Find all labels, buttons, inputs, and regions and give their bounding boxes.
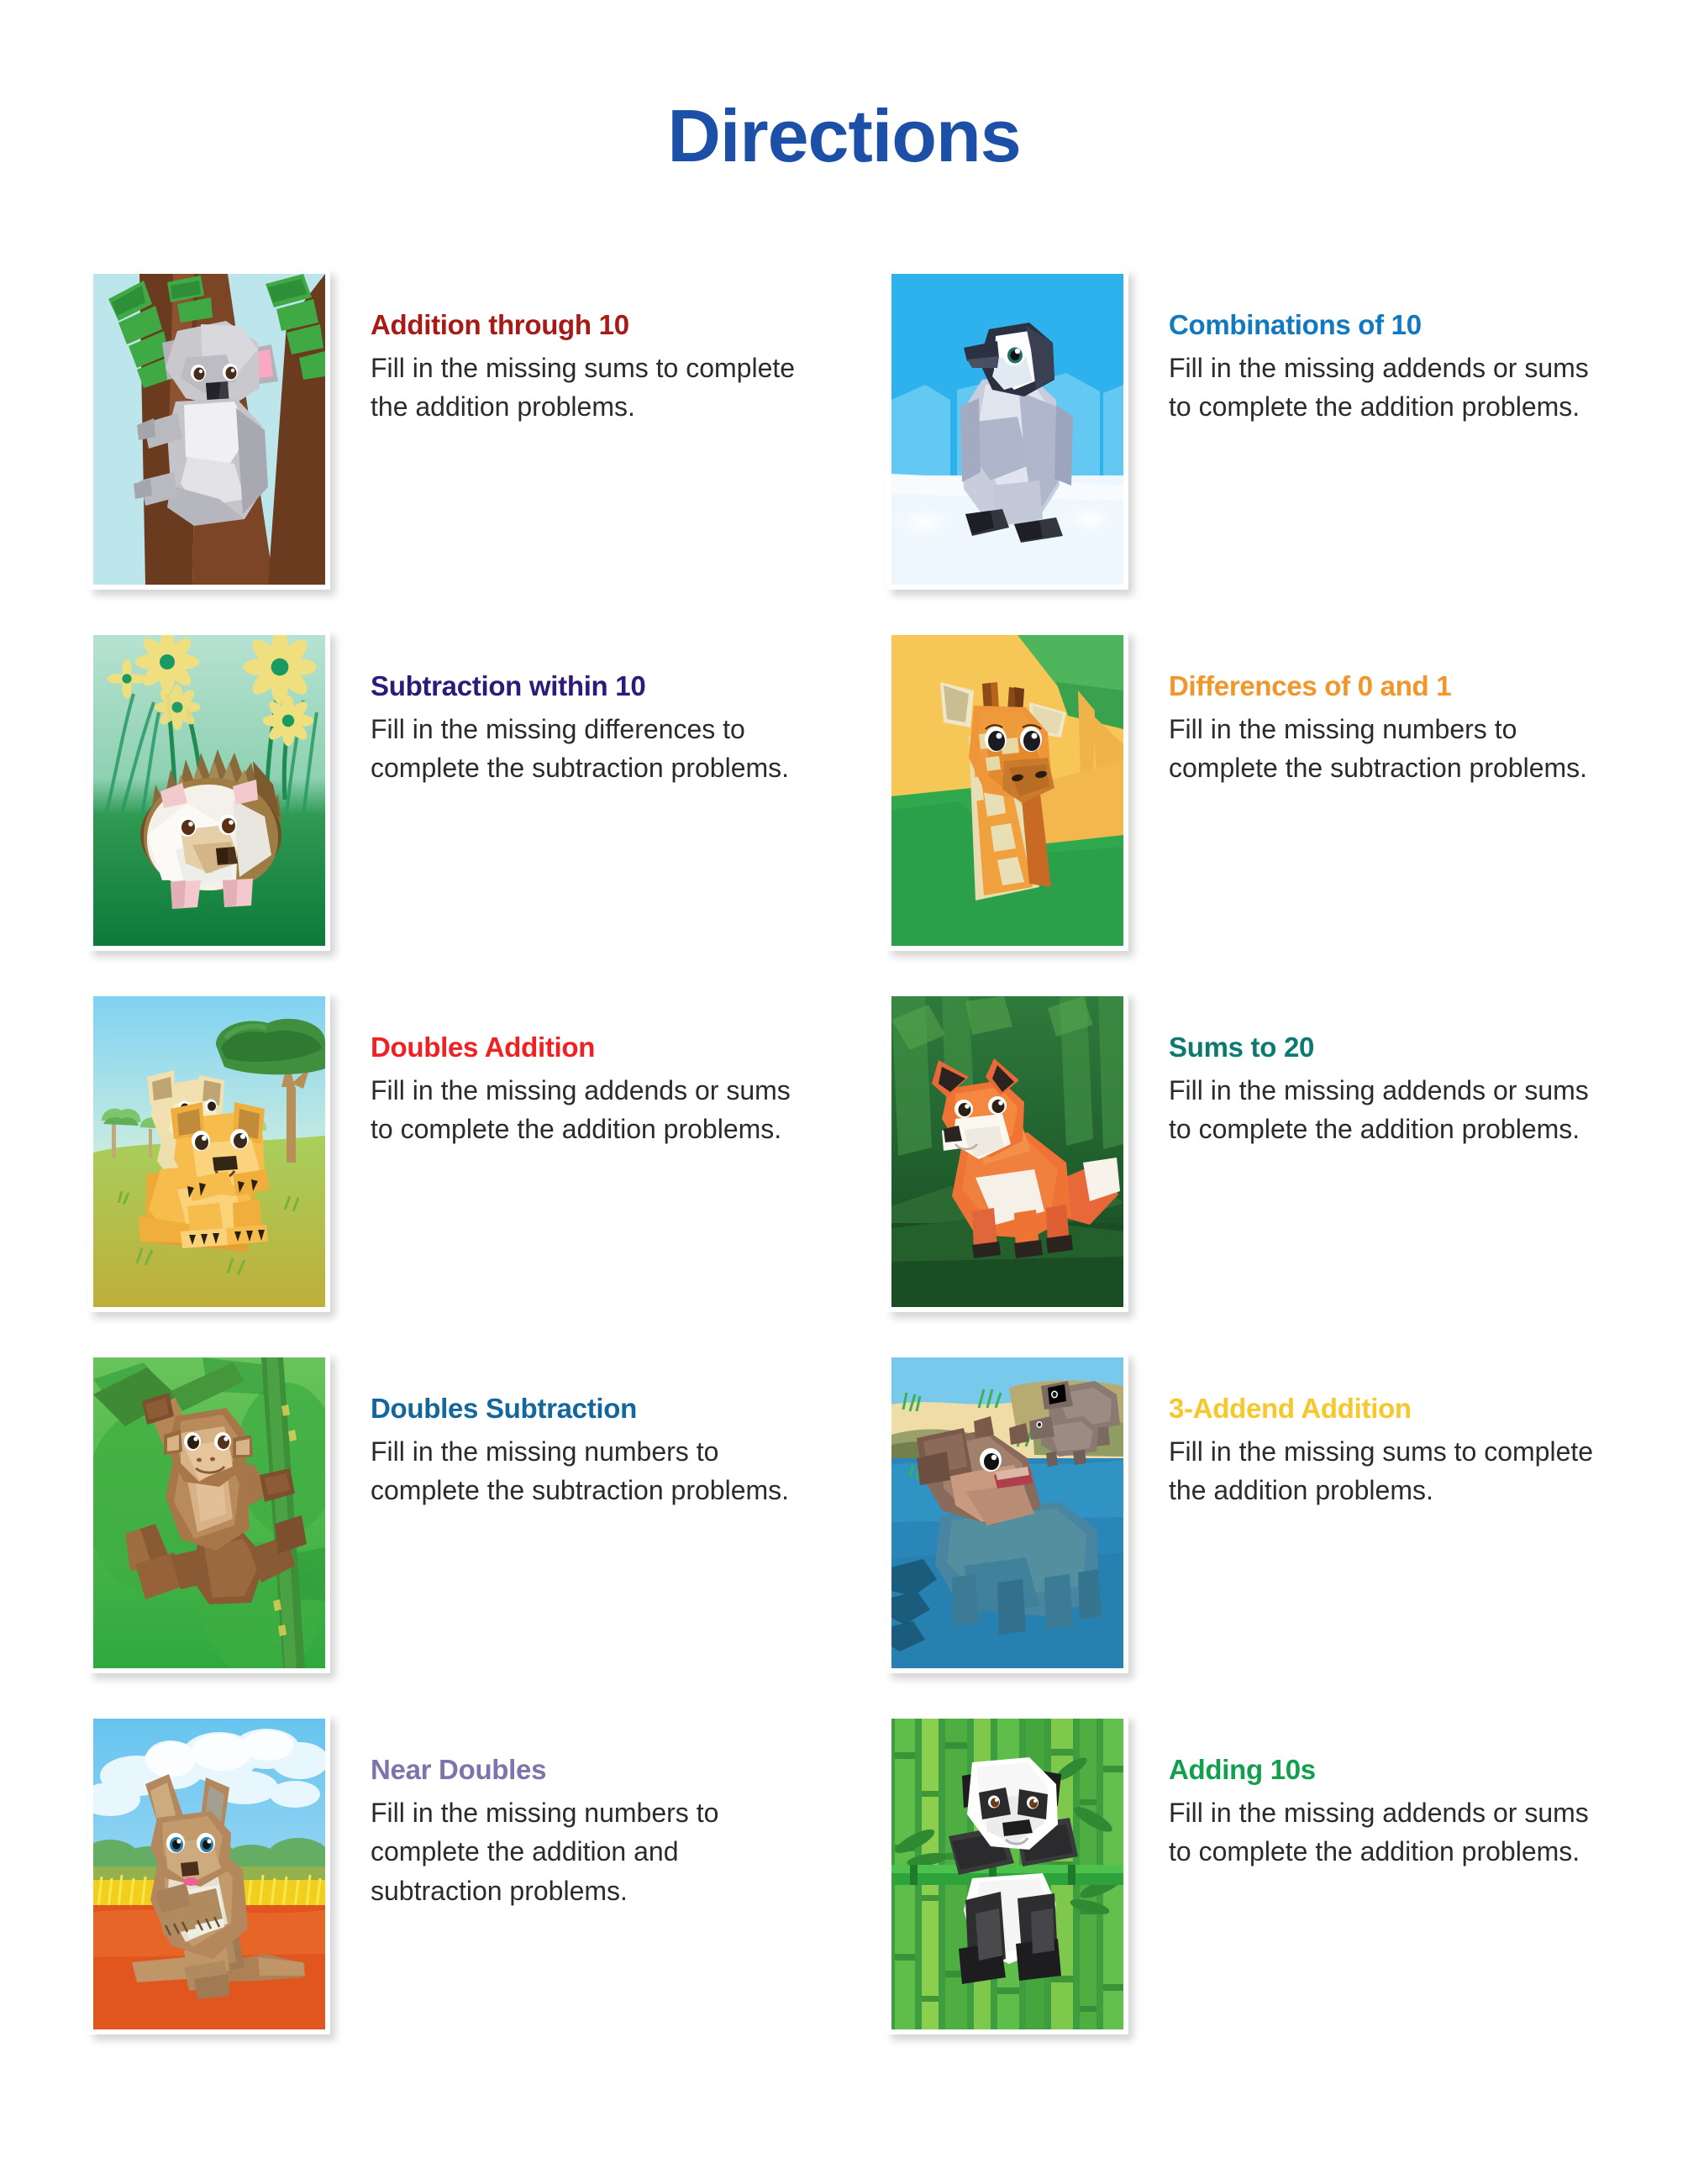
panda-on-bamboo-illustration	[891, 1719, 1123, 2029]
entry-description: Fill in the missing addends or sums to c…	[1169, 1793, 1606, 1872]
entry-description: Fill in the missing numbers to complete …	[371, 1432, 807, 1510]
entry-thumbnail	[886, 1352, 1128, 1673]
entry-text: Doubles Addition Fill in the missing add…	[371, 991, 870, 1149]
entry-text: Combinations of 10 Fill in the missing a…	[1169, 269, 1668, 427]
entry-text: Subtraction within 10 Fill in the missin…	[371, 630, 870, 788]
entry-description: Fill in the missing numbers to complete …	[371, 1793, 807, 1910]
entry-thumbnail	[886, 630, 1128, 951]
entry-thumbnail	[88, 269, 330, 590]
fox-illustration	[891, 996, 1123, 1307]
entry-text: Near Doubles Fill in the missing numbers…	[371, 1714, 870, 1910]
entry-thumbnail	[88, 991, 330, 1312]
entry-title: Adding 10s	[1169, 1754, 1668, 1786]
entry-thumbnail	[886, 991, 1128, 1312]
entry-thumbnail	[88, 1352, 330, 1673]
entry-title: Near Doubles	[371, 1754, 870, 1786]
kangaroo-illustration	[93, 1719, 325, 2029]
entry-description: Fill in the missing sums to complete the…	[371, 349, 807, 427]
entry-text: Sums to 20 Fill in the missing addends o…	[1169, 991, 1668, 1149]
entry-description: Fill in the missing addends or sums to c…	[1169, 1071, 1606, 1149]
entry-text: Doubles Subtraction Fill in the missing …	[371, 1352, 870, 1510]
entry-thumbnail	[88, 630, 330, 951]
hedgehog-in-flowers-illustration	[93, 635, 325, 946]
entry-description: Fill in the missing sums to complete the…	[1169, 1432, 1606, 1510]
direction-entry: 3-Addend Addition Fill in the missing su…	[886, 1352, 1668, 1714]
direction-entry: Differences of 0 and 1 Fill in the missi…	[886, 630, 1668, 991]
entry-title: Doubles Addition	[371, 1032, 870, 1063]
lion-cubs-illustration	[93, 996, 325, 1307]
direction-entry: Addition through 10 Fill in the missing …	[88, 269, 870, 630]
entry-title: 3-Addend Addition	[1169, 1393, 1668, 1425]
direction-entry: Doubles Addition Fill in the missing add…	[88, 991, 870, 1352]
directions-grid: Addition through 10 Fill in the missing …	[0, 269, 1688, 2075]
entry-thumbnail	[886, 269, 1128, 590]
entry-description: Fill in the missing addends or sums to c…	[371, 1071, 807, 1149]
entry-title: Differences of 0 and 1	[1169, 670, 1668, 702]
entry-title: Combinations of 10	[1169, 309, 1668, 341]
entry-description: Fill in the missing differences to compl…	[371, 710, 807, 788]
entry-text: 3-Addend Addition Fill in the missing su…	[1169, 1352, 1668, 1510]
direction-entry: Combinations of 10 Fill in the missing a…	[886, 269, 1668, 630]
entry-description: Fill in the missing addends or sums to c…	[1169, 349, 1606, 427]
page-title: Directions	[0, 0, 1688, 173]
entry-text: Addition through 10 Fill in the missing …	[371, 269, 870, 427]
penguin-chick-illustration	[891, 274, 1123, 585]
entry-thumbnail	[886, 1714, 1128, 2034]
entry-title: Doubles Subtraction	[371, 1393, 870, 1425]
giraffe-illustration	[891, 635, 1123, 946]
entry-thumbnail	[88, 1714, 330, 2034]
direction-entry: Sums to 20 Fill in the missing addends o…	[886, 991, 1668, 1352]
entry-title: Sums to 20	[1169, 1032, 1668, 1063]
entry-title: Subtraction within 10	[371, 670, 870, 702]
direction-entry: Subtraction within 10 Fill in the missin…	[88, 630, 870, 991]
direction-entry: Doubles Subtraction Fill in the missing …	[88, 1352, 870, 1714]
hippos-in-water-illustration	[891, 1357, 1123, 1668]
entry-title: Addition through 10	[371, 309, 870, 341]
koala-in-tree-illustration	[93, 274, 325, 585]
entry-description: Fill in the missing numbers to complete …	[1169, 710, 1606, 788]
entry-text: Adding 10s Fill in the missing addends o…	[1169, 1714, 1668, 1872]
direction-entry: Adding 10s Fill in the missing addends o…	[886, 1714, 1668, 2075]
monkey-on-vine-illustration	[93, 1357, 325, 1668]
directions-page: Directions	[0, 0, 1688, 2184]
entry-text: Differences of 0 and 1 Fill in the missi…	[1169, 630, 1668, 788]
direction-entry: Near Doubles Fill in the missing numbers…	[88, 1714, 870, 2075]
